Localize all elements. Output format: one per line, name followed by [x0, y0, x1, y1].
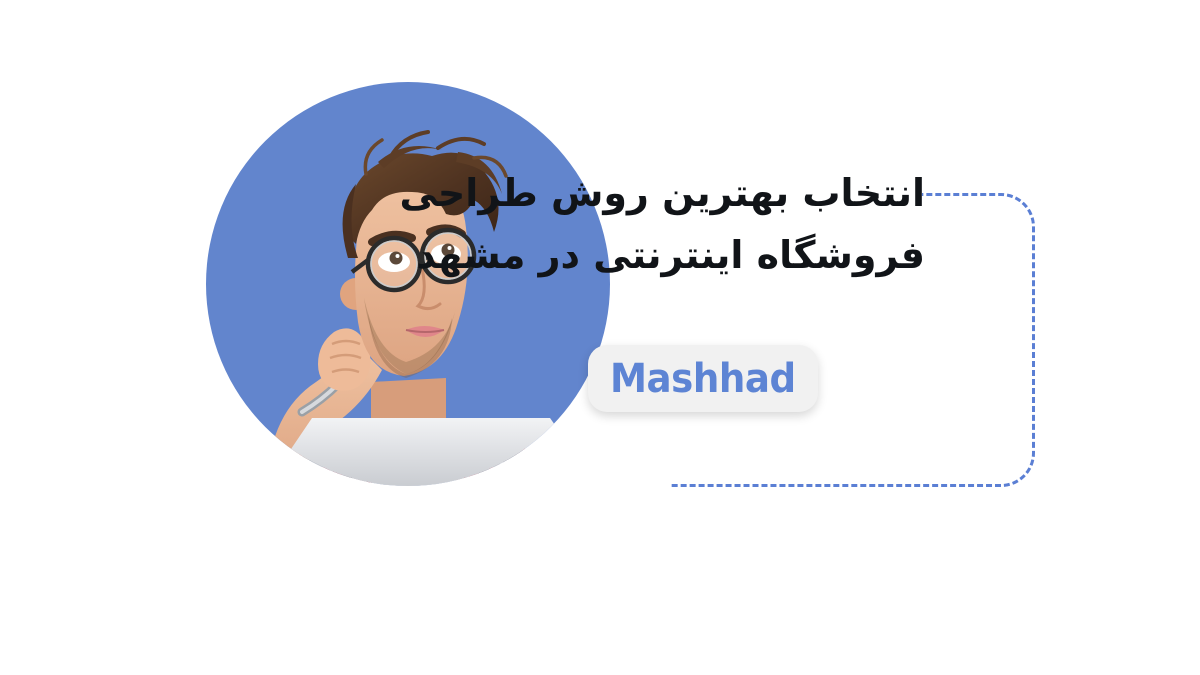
person-illustration	[206, 82, 610, 592]
mashhad-badge-label: Mashhad	[610, 356, 796, 402]
headline-line-2: فروشگاه اینترنتی در مشهد	[285, 225, 925, 287]
headline-line-1: انتخاب بهترین روش طراحی	[285, 163, 925, 225]
banner-canvas: انتخاب بهترین روش طراحی فروشگاه اینترنتی…	[0, 0, 1200, 675]
photo-container	[206, 82, 610, 592]
headline: انتخاب بهترین روش طراحی فروشگاه اینترنتی…	[285, 163, 925, 286]
mashhad-badge: Mashhad	[588, 345, 818, 412]
